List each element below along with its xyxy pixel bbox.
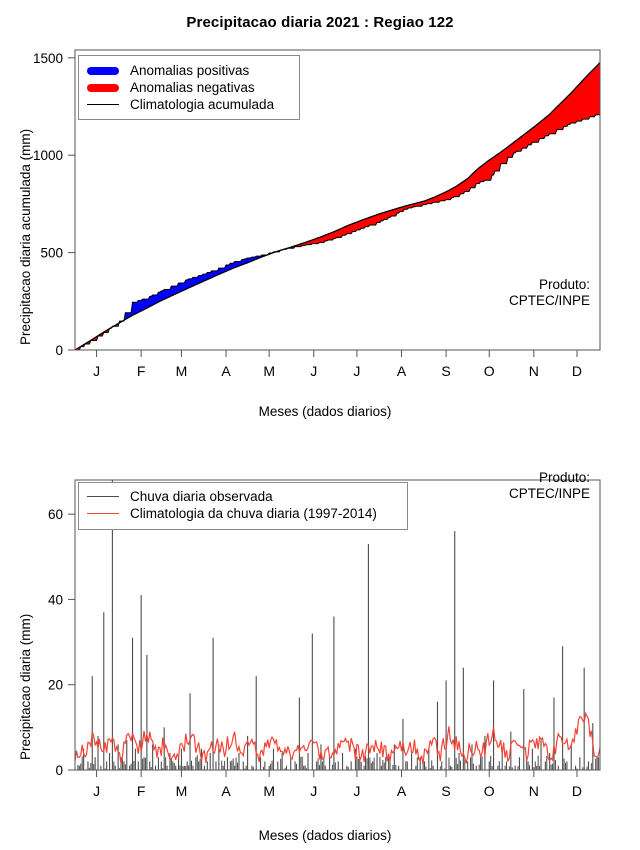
x-tick-label: D [572, 363, 582, 379]
y-axis-label-bottom: Precipitacao diaria (mm) [18, 614, 33, 760]
y-tick-label: 0 [55, 763, 63, 778]
y-tick-label: 40 [48, 592, 63, 607]
x-tick-label: J [310, 783, 317, 799]
x-axis-label-bottom: Meses (dados diarios) [75, 828, 575, 843]
legend-daily: Chuva diaria observadaClimatologia da ch… [78, 482, 408, 530]
x-tick-label: S [441, 783, 450, 799]
legend-swatch-icon [86, 104, 120, 105]
figure-root: Precipitacao diaria 2021 : Regiao 122 05… [0, 0, 640, 850]
x-tick-label: D [572, 783, 582, 799]
legend-item-label: Anomalias negativas [130, 80, 255, 95]
produto-note-bottom: Produto: CPTEC/INPE [400, 470, 590, 502]
legend-item: Anomalias negativas [86, 79, 292, 96]
legend-item: Anomalias positivas [86, 62, 292, 79]
x-tick-label: F [137, 363, 146, 379]
x-tick-label: J [93, 783, 100, 799]
x-tick-label: M [176, 363, 188, 379]
x-tick-label: F [137, 783, 146, 799]
x-tick-label: S [441, 363, 450, 379]
legend-swatch-icon [86, 84, 120, 92]
panel-cumulative: Precipitacao diaria 2021 : Regiao 122 05… [0, 0, 640, 430]
x-tick-label: M [176, 783, 188, 799]
y-tick-label: 1500 [33, 51, 63, 66]
legend-item-label: Chuva diaria observada [130, 489, 273, 504]
legend-item-label: Climatologia da chuva diaria (1997-2014) [130, 506, 377, 521]
y-tick-label: 20 [48, 678, 63, 693]
y-tick-label: 500 [40, 246, 63, 261]
climatology-daily-line [75, 713, 600, 765]
x-tick-label: J [93, 363, 100, 379]
y-tick-label: 60 [48, 507, 63, 522]
legend-item-label: Anomalias positivas [130, 63, 249, 78]
legend-swatch-icon [86, 513, 120, 514]
x-tick-label: A [397, 783, 407, 799]
legend-swatch-icon [86, 67, 120, 75]
x-tick-label: A [221, 363, 231, 379]
legend-item: Chuva diaria observada [86, 488, 400, 505]
x-tick-label: O [484, 783, 495, 799]
x-axis-label-top: Meses (dados diarios) [75, 404, 575, 419]
x-tick-label: O [484, 363, 495, 379]
legend-cumulative: Anomalias positivasAnomalias negativasCl… [78, 55, 300, 120]
y-tick-label: 0 [55, 343, 63, 358]
x-tick-label: J [353, 783, 360, 799]
positive-anomaly-area [125, 255, 266, 320]
panel-daily: 0204060JFMAMJJASOND Precipitacao diaria … [0, 430, 640, 850]
x-tick-label: J [310, 363, 317, 379]
legend-item: Climatologia acumulada [86, 96, 292, 113]
y-tick-label: 1000 [33, 148, 63, 163]
x-tick-label: N [529, 783, 539, 799]
negative-anomaly-area [285, 63, 600, 250]
x-tick-label: A [397, 363, 407, 379]
x-tick-label: M [263, 783, 275, 799]
x-tick-label: M [263, 363, 275, 379]
legend-item: Climatologia da chuva diaria (1997-2014) [86, 505, 400, 522]
legend-item-label: Climatologia acumulada [130, 97, 274, 112]
y-axis-label-top: Precipitacao diaria acumulada (mm) [18, 129, 33, 345]
x-tick-label: J [353, 363, 360, 379]
x-tick-label: A [221, 783, 231, 799]
produto-note-top: Produto: CPTEC/INPE [400, 277, 590, 309]
x-tick-label: N [529, 363, 539, 379]
legend-swatch-icon [86, 496, 120, 497]
